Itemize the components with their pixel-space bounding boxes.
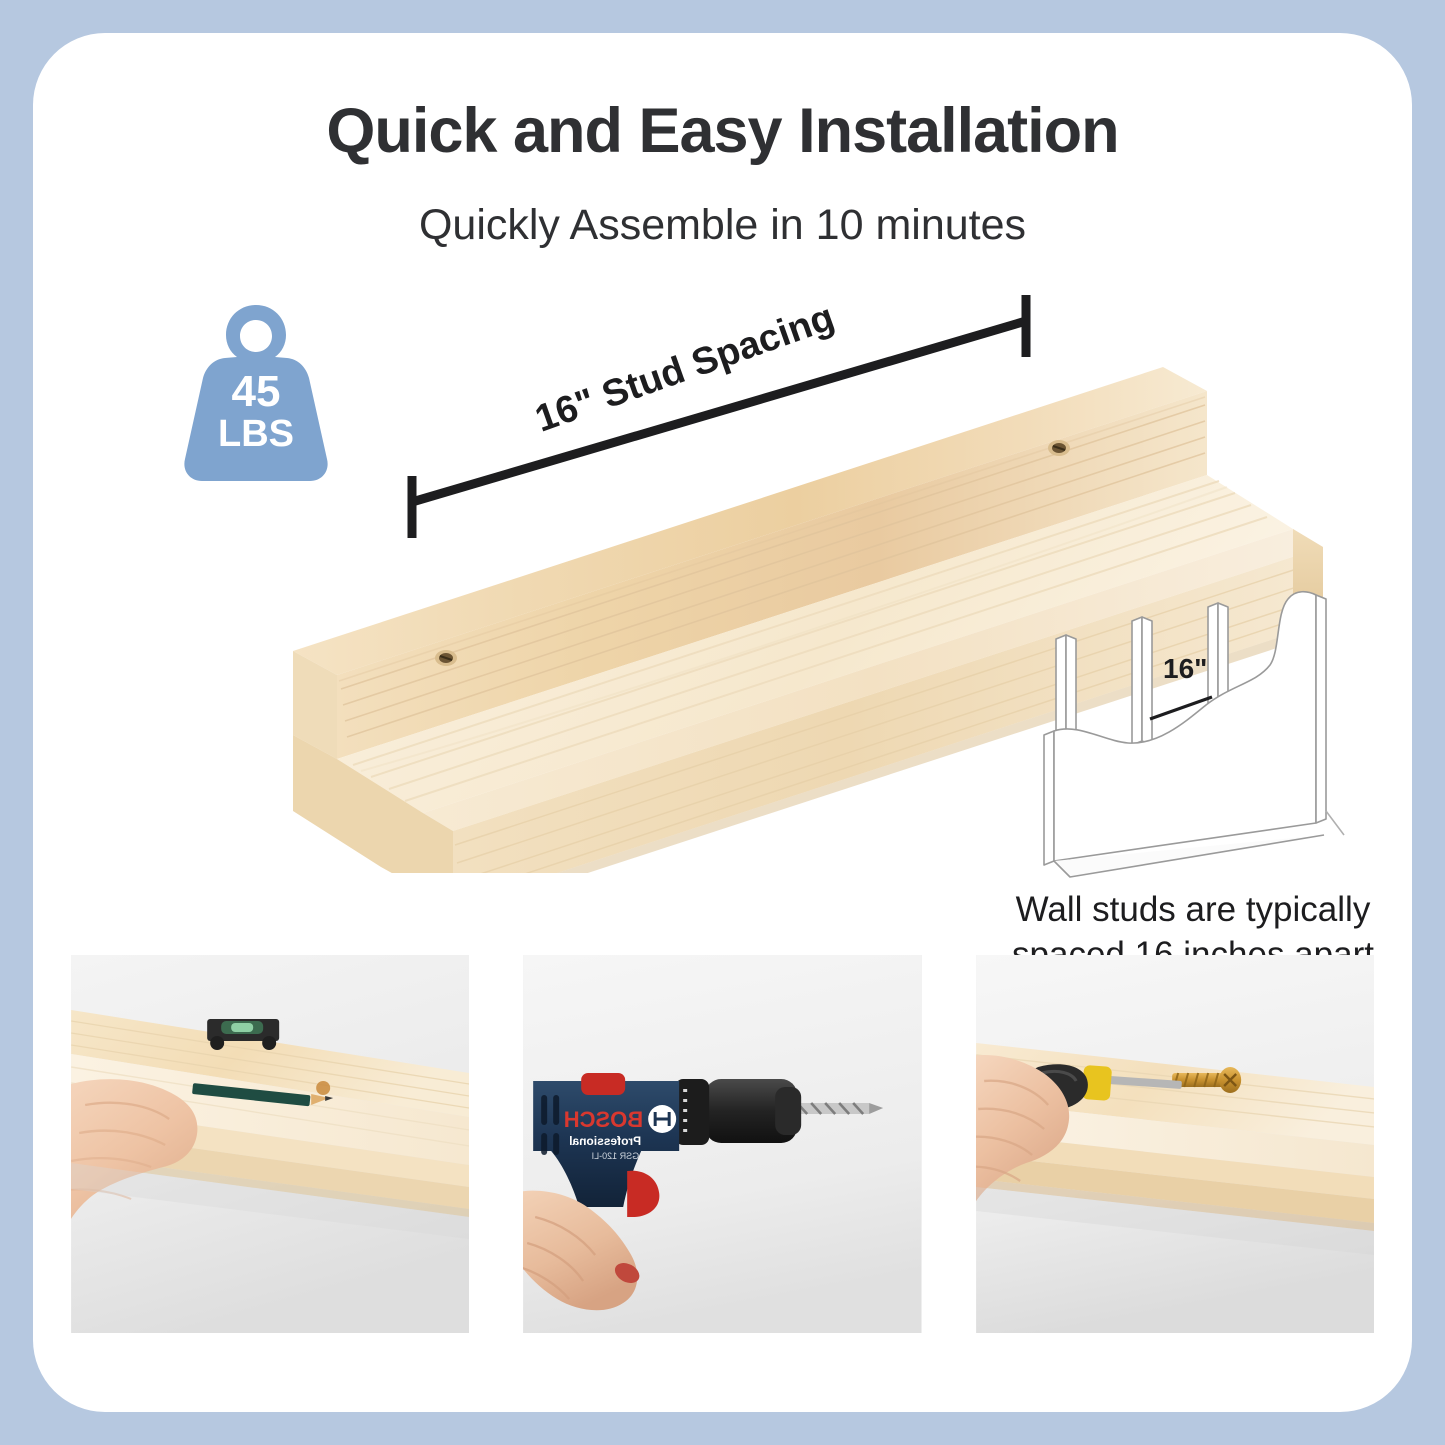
- mounting-screw: [435, 650, 457, 666]
- infographic-page: Quick and Easy Installation Quickly Asse…: [0, 0, 1445, 1445]
- step-3-photo: [976, 955, 1374, 1333]
- wall-stud-diagram: [1008, 573, 1348, 883]
- svg-text:Professional: Professional: [569, 1134, 641, 1148]
- drill-bit-icon: [791, 1103, 883, 1114]
- wall-cutaway-illustration: [1008, 573, 1348, 883]
- stud-diagram-dimension-label: 16": [1163, 653, 1207, 685]
- content-card: Quick and Easy Installation Quickly Asse…: [33, 33, 1412, 1412]
- caption-line-1: Wall studs are typically: [963, 888, 1412, 933]
- step-1-photo: [71, 955, 469, 1333]
- step-mark-with-pencil: [71, 955, 469, 1333]
- mounting-screw: [1048, 440, 1070, 456]
- step-drill-hole: BOSCH Professional GSR 120-LI: [523, 955, 921, 1333]
- step-drive-screw: [976, 955, 1374, 1333]
- page-title: Quick and Easy Installation: [33, 95, 1412, 167]
- installation-steps-strip: BOSCH Professional GSR 120-LI: [71, 955, 1374, 1333]
- page-subtitle: Quickly Assemble in 10 minutes: [33, 201, 1412, 250]
- drill-direction-switch: [581, 1073, 625, 1095]
- drill-chuck: [705, 1079, 801, 1143]
- drill-clutch-ring: [675, 1079, 709, 1145]
- svg-text:GSR 120-LI: GSR 120-LI: [592, 1151, 640, 1161]
- svg-text:BOSCH: BOSCH: [564, 1107, 643, 1132]
- step-2-photo: BOSCH Professional GSR 120-LI: [523, 955, 921, 1333]
